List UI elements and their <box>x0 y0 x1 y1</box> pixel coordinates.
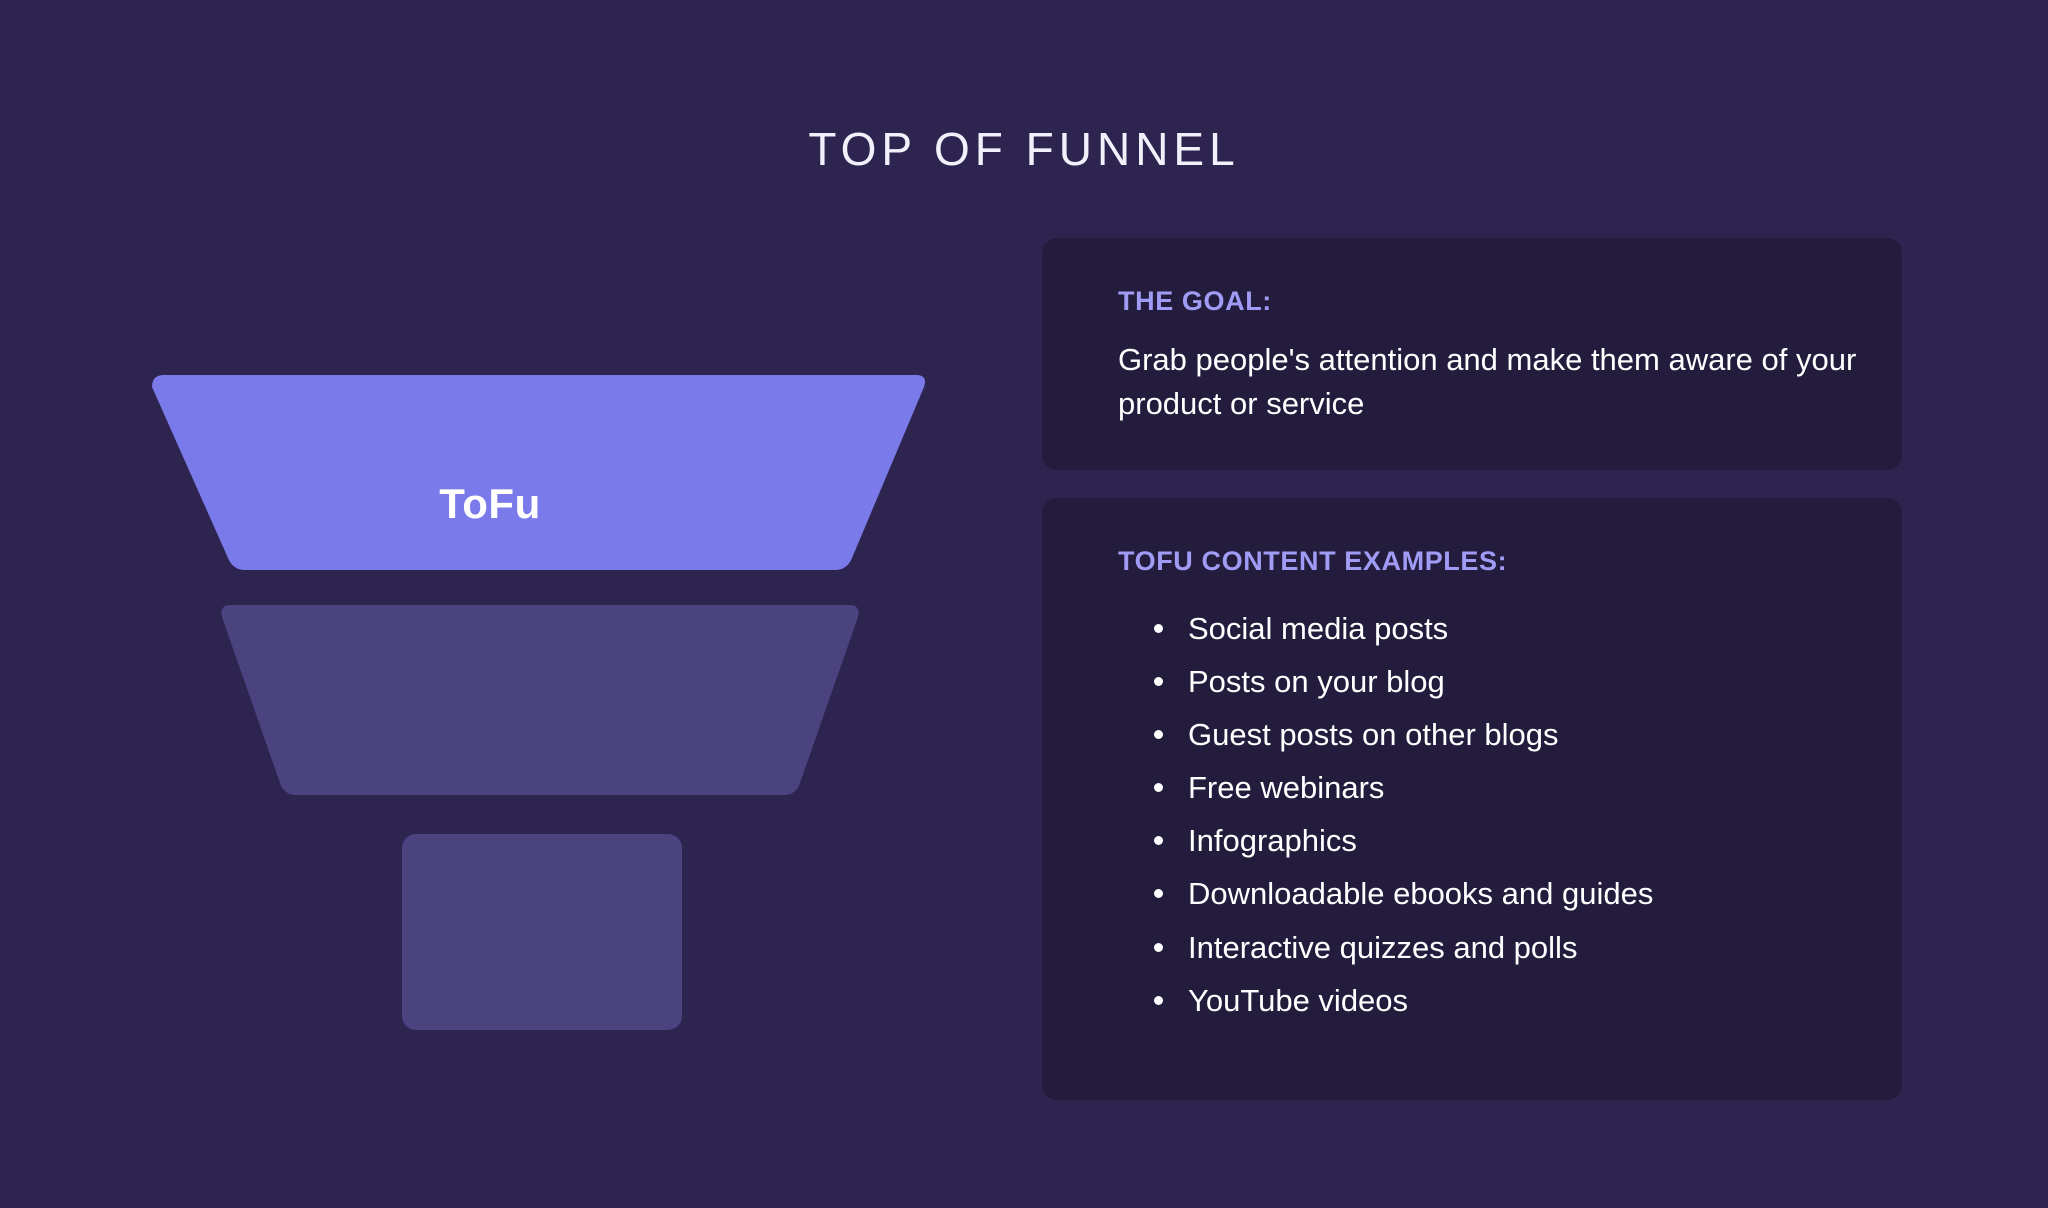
funnel-stage-tofu-shape <box>152 375 925 570</box>
list-item: Interactive quizzes and polls <box>1150 931 1870 965</box>
bullet-icon <box>1154 996 1163 1005</box>
list-item-label: Infographics <box>1188 823 1357 858</box>
list-item: Guest posts on other blogs <box>1150 718 1870 752</box>
list-item: Posts on your blog <box>1150 665 1870 699</box>
goal-card-heading: THE GOAL: <box>1118 286 1272 317</box>
list-item-label: Social media posts <box>1188 611 1448 646</box>
list-item: Downloadable ebooks and guides <box>1150 877 1870 911</box>
funnel-stage-tofu-label: ToFu <box>100 480 880 528</box>
bullet-icon <box>1154 889 1163 898</box>
slide-canvas: TOP OF FUNNEL ToFu THE GOAL: Grab people… <box>0 0 2048 1208</box>
examples-card-heading: TOFU CONTENT EXAMPLES: <box>1118 546 1507 577</box>
bullet-icon <box>1154 943 1163 952</box>
funnel-stage-mofu <box>221 605 858 795</box>
list-item-label: Interactive quizzes and polls <box>1188 930 1577 965</box>
list-item: Free webinars <box>1150 771 1870 805</box>
bullet-icon <box>1154 836 1163 845</box>
list-item-label: Free webinars <box>1188 770 1384 805</box>
bullet-icon <box>1154 730 1163 739</box>
goal-card-body: Grab people's attention and make them aw… <box>1118 338 1858 426</box>
list-item: Infographics <box>1150 824 1870 858</box>
list-item-label: Downloadable ebooks and guides <box>1188 876 1653 911</box>
funnel-stage-mofu-shape <box>221 605 858 795</box>
funnel-diagram: ToFu <box>100 330 980 1090</box>
list-item: YouTube videos <box>1150 984 1870 1018</box>
examples-card: TOFU CONTENT EXAMPLES: Social media post… <box>1042 498 1902 1100</box>
funnel-stage-tofu <box>152 375 925 570</box>
page-title: TOP OF FUNNEL <box>0 122 2048 176</box>
examples-list: Social media postsPosts on your blogGues… <box>1150 612 1870 1037</box>
bullet-icon <box>1154 783 1163 792</box>
list-item-label: Posts on your blog <box>1188 664 1445 699</box>
list-item: Social media posts <box>1150 612 1870 646</box>
list-item-label: YouTube videos <box>1188 983 1408 1018</box>
bullet-icon <box>1154 624 1163 633</box>
funnel-stage-bofu-shape <box>402 834 682 1030</box>
list-item-label: Guest posts on other blogs <box>1188 717 1559 752</box>
goal-card: THE GOAL: Grab people's attention and ma… <box>1042 238 1902 470</box>
funnel-stage-bofu <box>402 834 682 1030</box>
bullet-icon <box>1154 677 1163 686</box>
